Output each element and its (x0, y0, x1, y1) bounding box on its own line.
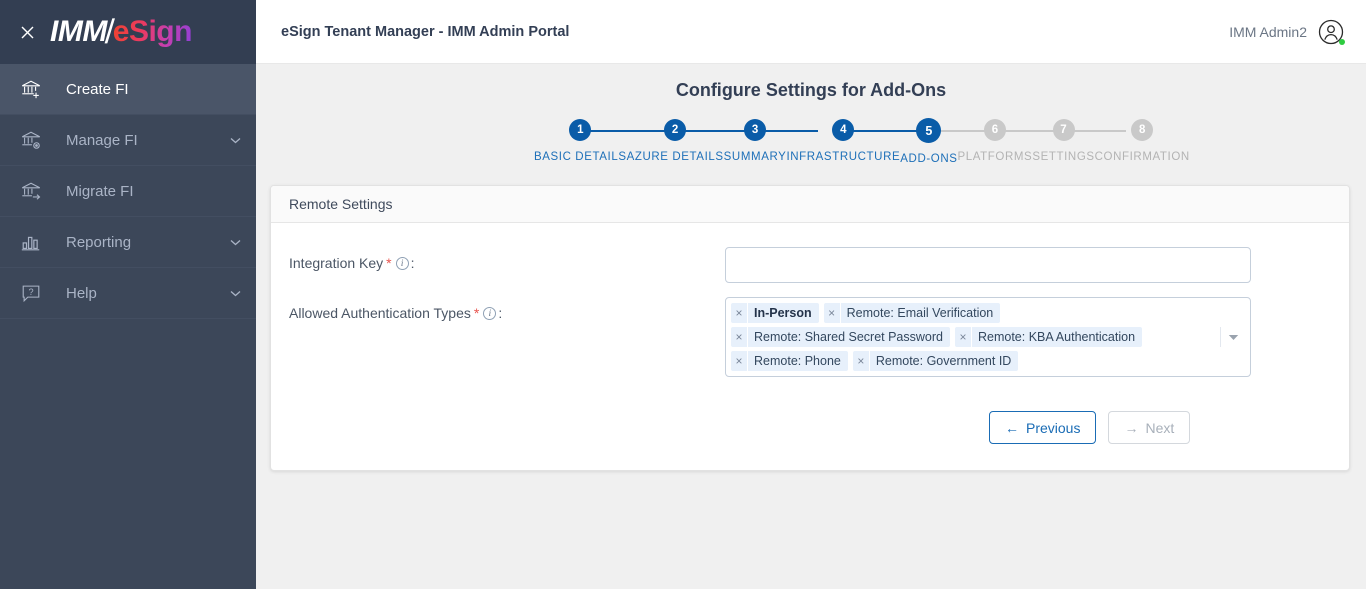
chip-remove-icon[interactable]: × (731, 327, 748, 347)
auth-types-multiselect[interactable]: × In-Person × Remote: Email Verification… (725, 297, 1251, 377)
step-number: 4 (832, 119, 854, 141)
step-label: AZURE DETAILS (627, 151, 724, 163)
chip-item[interactable]: × Remote: Phone (731, 351, 848, 371)
step-number: 3 (744, 119, 766, 141)
form-row-auth-types: Allowed Authentication Types*i: × In-Per… (271, 297, 1349, 377)
page-title: Configure Settings for Add-Ons (256, 64, 1366, 101)
next-button[interactable]: → Next (1108, 411, 1190, 444)
sidebar-nav: Create FI Manage FI (0, 64, 256, 319)
chevron-down-icon[interactable] (228, 239, 242, 246)
sidebar-item-help[interactable]: ? Help (0, 268, 256, 319)
step-azure-details[interactable]: 2 AZURE DETAILS (627, 118, 724, 165)
label-colon: : (498, 305, 502, 321)
sidebar-item-label: Create FI (66, 81, 242, 98)
auth-types-label-text: Allowed Authentication Types (289, 305, 471, 321)
label-colon: : (411, 255, 415, 271)
bank-plus-icon (16, 78, 46, 100)
info-icon[interactable]: i (396, 257, 409, 270)
step-add-ons[interactable]: 5 ADD-ONS (900, 118, 957, 165)
required-marker: * (386, 255, 391, 271)
remote-settings-card: Remote Settings Integration Key*i: Allow… (270, 185, 1350, 471)
chevron-down-icon[interactable] (228, 290, 242, 297)
status-badge (1339, 39, 1345, 45)
sidebar-item-label: Manage FI (66, 132, 228, 149)
step-label: CONFIRMATION (1095, 151, 1190, 163)
step-label: SUMMARY (724, 151, 787, 163)
chip-item[interactable]: × Remote: KBA Authentication (955, 327, 1142, 347)
step-basic-details[interactable]: 1 BASIC DETAILS (534, 118, 627, 165)
app-logo: IMM/eSign (50, 15, 192, 49)
step-confirmation[interactable]: 8 CONFIRMATION (1095, 118, 1190, 165)
wizard-button-row: ← Previous → Next (271, 411, 1349, 444)
integration-key-label-text: Integration Key (289, 255, 383, 271)
step-number: 8 (1131, 119, 1153, 141)
main-area: eSign Tenant Manager - IMM Admin Portal … (256, 0, 1366, 589)
logo-imm: IMM (50, 17, 107, 47)
next-button-label: Next (1145, 420, 1174, 436)
chip-remove-icon[interactable]: × (853, 351, 870, 371)
bank-arrow-icon (16, 180, 46, 202)
chip-label: Remote: Phone (748, 351, 848, 371)
chevron-down-icon[interactable] (228, 137, 242, 144)
step-number: 2 (664, 119, 686, 141)
step-number: 6 (984, 119, 1006, 141)
chip-label: Remote: Shared Secret Password (748, 327, 950, 347)
step-label: BASIC DETAILS (534, 151, 627, 163)
sidebar-item-label: Migrate FI (66, 183, 242, 200)
step-infrastructure[interactable]: 4 INFRASTRUCTURE (786, 118, 900, 165)
form-row-integration-key: Integration Key*i: (271, 247, 1349, 283)
chip-label: Remote: Government ID (870, 351, 1018, 371)
sidebar-item-label: Reporting (66, 234, 228, 251)
avatar[interactable] (1318, 19, 1344, 45)
sidebar-item-create-fi[interactable]: Create FI (0, 64, 256, 115)
close-icon[interactable] (14, 19, 40, 45)
step-number: 7 (1053, 119, 1075, 141)
card-body: Integration Key*i: Allowed Authenticatio… (271, 223, 1349, 470)
step-label: SETTINGS (1032, 151, 1094, 163)
chip-remove-icon[interactable]: × (824, 303, 841, 323)
auth-types-label: Allowed Authentication Types*i: (289, 297, 725, 321)
step-label: PLATFORMS (958, 151, 1033, 163)
step-platforms[interactable]: 6 PLATFORMS (958, 118, 1033, 165)
step-label: ADD-ONS (900, 153, 957, 165)
help-bubble-icon: ? (16, 282, 46, 304)
user-name: IMM Admin2 (1229, 24, 1307, 40)
card-header-title: Remote Settings (271, 186, 1349, 223)
step-number: 1 (569, 119, 591, 141)
integration-key-label: Integration Key*i: (289, 247, 725, 271)
content-area: Configure Settings for Add-Ons 1 BASIC D… (256, 64, 1366, 589)
chip-list: × In-Person × Remote: Email Verification… (731, 303, 1220, 371)
previous-button[interactable]: ← Previous (989, 411, 1096, 444)
topbar-user-area: IMM Admin2 (1229, 19, 1344, 45)
svg-text:?: ? (28, 287, 33, 297)
step-number: 5 (916, 118, 941, 143)
step-summary[interactable]: 3 SUMMARY (724, 118, 787, 165)
sidebar-item-migrate-fi[interactable]: Migrate FI (0, 166, 256, 217)
chip-remove-icon[interactable]: × (955, 327, 972, 347)
chip-item[interactable]: × Remote: Government ID (853, 351, 1018, 371)
app-root: IMM/eSign (0, 0, 1366, 589)
bar-chart-icon (16, 231, 46, 253)
sidebar-item-label: Help (66, 285, 228, 302)
step-settings[interactable]: 7 SETTINGS (1032, 118, 1094, 165)
chip-item[interactable]: × In-Person (731, 303, 819, 323)
chevron-down-icon[interactable] (1220, 327, 1246, 347)
page-header-title: eSign Tenant Manager - IMM Admin Portal (281, 24, 569, 40)
info-icon[interactable]: i (483, 307, 496, 320)
integration-key-input[interactable] (725, 247, 1251, 283)
chip-item[interactable]: × Remote: Email Verification (824, 303, 1001, 323)
chip-label: In-Person (748, 303, 819, 323)
arrow-left-icon: ← (1005, 421, 1019, 435)
arrow-right-icon: → (1124, 421, 1138, 435)
chip-label: Remote: KBA Authentication (972, 327, 1142, 347)
sidebar-header: IMM/eSign (0, 0, 256, 64)
sidebar-item-reporting[interactable]: Reporting (0, 217, 256, 268)
required-marker: * (474, 305, 479, 321)
chip-remove-icon[interactable]: × (731, 351, 748, 371)
previous-button-label: Previous (1026, 420, 1080, 436)
sidebar-item-manage-fi[interactable]: Manage FI (0, 115, 256, 166)
topbar: eSign Tenant Manager - IMM Admin Portal … (256, 0, 1366, 64)
sidebar: IMM/eSign (0, 0, 256, 589)
wizard-stepper: 1 BASIC DETAILS 2 AZURE DETAILS 3 SUMMAR… (534, 118, 1088, 165)
chip-item[interactable]: × Remote: Shared Secret Password (731, 327, 950, 347)
step-label: INFRASTRUCTURE (786, 151, 900, 163)
chip-remove-icon[interactable]: × (731, 303, 748, 323)
logo-esign: eSign (113, 17, 192, 47)
chip-label: Remote: Email Verification (841, 303, 1001, 323)
bank-gear-icon (16, 129, 46, 151)
logo-slash: / (104, 15, 114, 49)
